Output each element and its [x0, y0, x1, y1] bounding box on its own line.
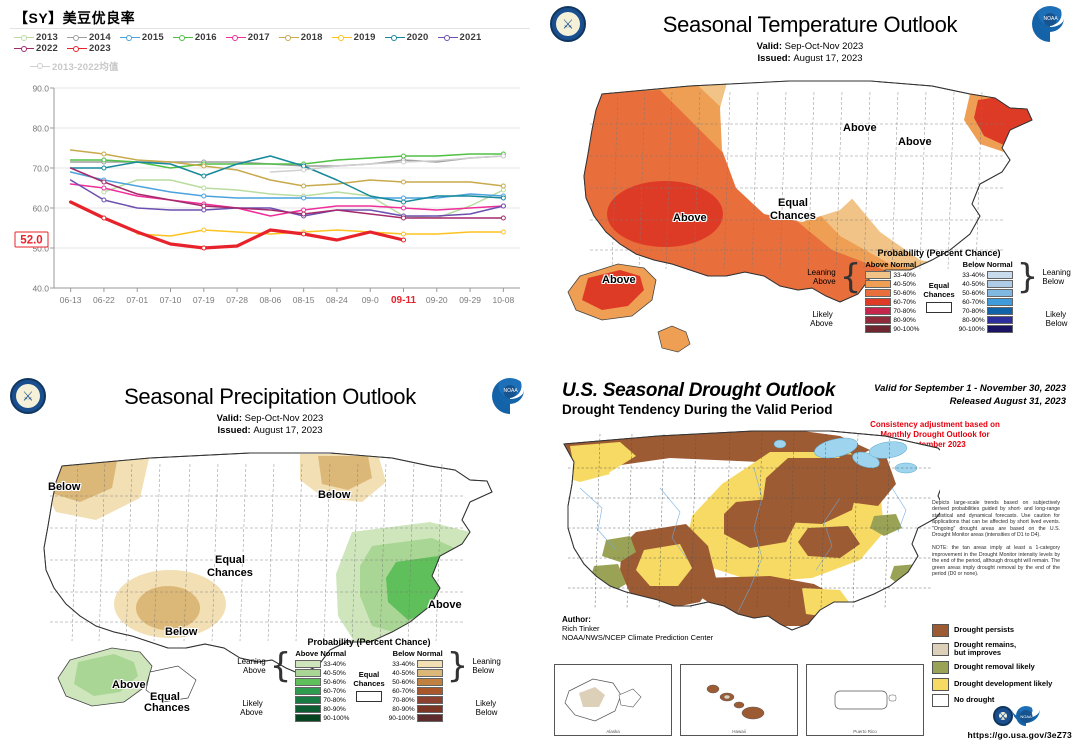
- temperature-below-swatch-row: 50-60%: [959, 289, 1013, 298]
- precipitation-equal-chances: EqualChances: [353, 670, 384, 702]
- temperature-below-range: 50-60%: [962, 290, 984, 297]
- temperature-header: ⚔ NOAA Seasonal Temperature Outlook Vali…: [540, 0, 1080, 64]
- svg-text:09-29: 09-29: [459, 295, 481, 305]
- precipitation-above-range: 80-90%: [323, 706, 345, 713]
- legend-item-2017[interactable]: 2017: [226, 32, 270, 43]
- seasonal-precipitation-outlook-panel: ⚔ NOAA Seasonal Precipitation Outlook Va…: [0, 372, 540, 744]
- temperature-below-range: 40-50%: [962, 281, 984, 288]
- precipitation-below-column: Below Normal33-40%40-50%50-60%60-70%70-8…: [389, 649, 443, 723]
- seasonal-temperature-outlook-panel: ⚔ NOAA Seasonal Temperature Outlook Vali…: [540, 0, 1080, 372]
- temperature-leaning-above-label: LeaningAbove: [807, 268, 835, 286]
- precipitation-below-range: 33-40%: [392, 661, 414, 668]
- drought-author-key: Author:: [562, 615, 591, 624]
- precipitation-below-swatch-row: 80-90%: [389, 705, 443, 714]
- temperature-valid-block: Valid: Sep-Oct-Nov 2023 Issued: August 1…: [540, 41, 1080, 65]
- temperature-map-label: Above: [673, 212, 707, 224]
- temperature-above-swatch-row: 40-50%: [865, 280, 919, 289]
- temperature-above-swatch: [865, 325, 891, 333]
- precipitation-above-range: 60-70%: [323, 688, 345, 695]
- precipitation-header: ⚔ NOAA Seasonal Precipitation Outlook Va…: [0, 372, 540, 436]
- precipitation-above-range: 33-40%: [323, 661, 345, 668]
- temperature-map-label: Above: [898, 136, 932, 148]
- noaa-seal-icon: ⚔: [550, 6, 586, 42]
- precipitation-below-range: 50-60%: [392, 679, 414, 686]
- drought-legend-label: Drought development likely: [954, 680, 1052, 689]
- temperature-above-swatch: [865, 271, 891, 279]
- legend-item-2020[interactable]: 2020: [385, 32, 429, 43]
- legend-marker-icon: [14, 44, 34, 53]
- drought-valid-line2: Released August 31, 2023: [874, 395, 1066, 408]
- legend-item-2016[interactable]: 2016: [173, 32, 217, 43]
- svg-text:08-06: 08-06: [259, 295, 281, 305]
- temperature-above-swatch-row: 90-100%: [865, 325, 919, 334]
- title-divider: [10, 28, 530, 29]
- temperature-above-swatch-row: 60-70%: [865, 298, 919, 307]
- drought-legend-swatch: [932, 694, 949, 707]
- precipitation-below-header: Below Normal: [389, 649, 443, 658]
- precipitation-above-swatch: [295, 705, 321, 713]
- chart-legend-years: 2013201420152016201720182019202020212022…: [14, 32, 526, 54]
- temperature-above-swatch-row: 80-90%: [865, 316, 919, 325]
- drought-author-org: NOAA/NWS/NCEP Climate Prediction Center: [562, 633, 713, 642]
- precipitation-above-swatch: [295, 687, 321, 695]
- drought-legend: Drought persistsDrought remains,but impr…: [932, 624, 1072, 711]
- temperature-below-swatch-row: 33-40%: [959, 271, 1013, 280]
- temperature-below-range: 80-90%: [962, 317, 984, 324]
- noaa-logo-icon: NOAA: [1016, 706, 1036, 726]
- temperature-below-range: 60-70%: [962, 299, 984, 306]
- precipitation-above-column: Above Normal33-40%40-50%50-60%60-70%70-8…: [295, 649, 349, 723]
- drought-legend-item: Drought removal likely: [932, 661, 1072, 674]
- drought-legend-item: Drought development likely: [932, 678, 1072, 691]
- precipitation-map-label: Above: [428, 599, 462, 611]
- temperature-map-label: Above: [602, 274, 636, 286]
- precipitation-map-label: Below: [48, 481, 80, 493]
- precipitation-valid-block: Valid: Sep-Oct-Nov 2023 Issued: August 1…: [0, 413, 540, 437]
- temperature-below-swatch-row: 60-70%: [959, 298, 1013, 307]
- temperature-likely-below-label: LikelyBelow: [1046, 310, 1068, 328]
- svg-text:10-08: 10-08: [492, 295, 514, 305]
- drought-disclaimer-p2: NOTE: the tan areas imply at least a 1-c…: [932, 545, 1060, 577]
- temperature-below-swatch: [987, 289, 1013, 297]
- temperature-above-swatch: [865, 307, 891, 315]
- legend-item-label: 2017: [248, 32, 270, 43]
- svg-text:60.0: 60.0: [32, 204, 49, 214]
- temperature-below-swatch-row: 80-90%: [959, 316, 1013, 325]
- precipitation-below-swatch-row: 70-80%: [389, 696, 443, 705]
- temperature-above-swatch: [865, 280, 891, 288]
- temperature-above-column: Above Normal33-40%40-50%50-60%60-70%70-8…: [865, 260, 919, 334]
- svg-text:90.0: 90.0: [32, 84, 49, 94]
- precipitation-above-swatch-row: 60-70%: [295, 687, 349, 696]
- precipitation-above-swatch: [295, 669, 321, 677]
- temperature-equal-swatch: [926, 302, 952, 313]
- precipitation-map-label: Chances: [207, 567, 253, 579]
- temperature-above-swatch: [865, 316, 891, 324]
- temperature-below-range: 90-100%: [959, 326, 985, 333]
- drought-legend-item: Drought remains,but improves: [932, 641, 1072, 658]
- precipitation-above-swatch-row: 80-90%: [295, 705, 349, 714]
- drought-author-name: Rich Tinker: [562, 624, 600, 633]
- legend-item-label: 2016: [195, 32, 217, 43]
- legend-item-label: 2019: [354, 32, 376, 43]
- precipitation-above-swatch-row: 90-100%: [295, 714, 349, 723]
- precipitation-map-label: Below: [318, 489, 350, 501]
- temperature-below-swatch: [987, 271, 1013, 279]
- precipitation-title: Seasonal Precipitation Outlook: [0, 372, 540, 410]
- precipitation-above-swatch-row: 50-60%: [295, 678, 349, 687]
- temperature-below-range: 70-80%: [962, 308, 984, 315]
- precipitation-above-swatch: [295, 660, 321, 668]
- precipitation-above-header: Above Normal: [295, 649, 349, 658]
- svg-text:70.0: 70.0: [32, 164, 49, 174]
- temperature-above-range: 50-60%: [893, 290, 915, 297]
- precipitation-above-range: 40-50%: [323, 670, 345, 677]
- precipitation-map-label: Above: [112, 679, 146, 691]
- temperature-above-range: 70-80%: [893, 308, 915, 315]
- svg-text:07-01: 07-01: [126, 295, 148, 305]
- precipitation-valid-key: Valid:: [217, 413, 242, 424]
- temperature-issued-value: August 17, 2023: [793, 53, 862, 64]
- svg-text:80.0: 80.0: [32, 124, 49, 134]
- precipitation-map-label: Below: [165, 626, 197, 638]
- drought-inset-hawaii: Hawaii: [680, 664, 798, 736]
- precipitation-equal-label-1: Equal: [353, 670, 384, 679]
- temperature-valid-value: Sep-Oct-Nov 2023: [785, 41, 864, 52]
- drought-inset-alaska: Alaska: [554, 664, 672, 736]
- temperature-below-header: Below Normal: [959, 260, 1013, 269]
- legend-item-2022[interactable]: 2022: [14, 43, 58, 54]
- precipitation-likely-above-label: LikelyAbove: [240, 699, 263, 717]
- temperature-below-swatch: [987, 316, 1013, 324]
- temperature-below-swatch: [987, 280, 1013, 288]
- precipitation-below-swatch-row: 33-40%: [389, 660, 443, 669]
- temperature-above-header: Above Normal: [865, 260, 919, 269]
- legend-item-label: 2020: [407, 32, 429, 43]
- precipitation-above-range: 50-60%: [323, 679, 345, 686]
- temperature-issued-key: Issued:: [757, 53, 790, 64]
- temperature-above-range: 90-100%: [893, 326, 919, 333]
- svg-text:08-24: 08-24: [326, 295, 348, 305]
- legend-item-label: 2023: [89, 43, 111, 54]
- soybean-condition-chart-panel: 【SY】美豆优良率 201320142015201620172018201920…: [0, 0, 540, 372]
- legend-item-label: 2018: [301, 32, 323, 43]
- seasonal-drought-outlook-panel: U.S. Seasonal Drought Outlook Drought Te…: [540, 372, 1080, 744]
- drought-legend-label: Drought removal likely: [954, 663, 1035, 672]
- temperature-above-swatch: [865, 298, 891, 306]
- temperature-above-range: 60-70%: [893, 299, 915, 306]
- legend-item-2014[interactable]: 2014: [67, 32, 111, 43]
- temperature-above-swatch-row: 33-40%: [865, 271, 919, 280]
- drought-title: U.S. Seasonal Drought Outlook: [562, 380, 835, 402]
- temperature-likely-above-label: LikelyAbove: [810, 310, 833, 328]
- drought-subtitle: Drought Tendency During the Valid Period: [562, 402, 833, 417]
- legend-marker-icon: [332, 33, 352, 42]
- temperature-above-range: 40-50%: [893, 281, 915, 288]
- precipitation-below-range: 60-70%: [392, 688, 414, 695]
- legend-item-label: 2022: [36, 43, 58, 54]
- precipitation-above-swatch-row: 33-40%: [295, 660, 349, 669]
- precipitation-equal-label-2: Chances: [353, 679, 384, 688]
- precipitation-probability-legend: Probability (Percent Chance)LeaningAbove…: [238, 637, 500, 723]
- precipitation-below-swatch-row: 50-60%: [389, 678, 443, 687]
- temperature-above-range: 33-40%: [893, 272, 915, 279]
- precipitation-above-range: 70-80%: [323, 697, 345, 704]
- svg-text:40.0: 40.0: [32, 284, 49, 294]
- drought-legend-swatch: [932, 678, 949, 691]
- precipitation-below-range: 40-50%: [392, 670, 414, 677]
- page-title: 【SY】美豆优良率: [14, 8, 135, 28]
- legend-item-2013[interactable]: 2013: [14, 32, 58, 43]
- svg-text:07-10: 07-10: [160, 295, 182, 305]
- precipitation-equal-swatch: [356, 691, 382, 702]
- drought-legend-swatch: [932, 643, 949, 656]
- drought-url: https://go.usa.gov/3eZ73: [968, 730, 1072, 740]
- drought-legend-item: Drought persists: [932, 624, 1072, 637]
- precipitation-above-swatch-row: 40-50%: [295, 669, 349, 678]
- temperature-equal-label-1: Equal: [923, 281, 954, 290]
- legend-item-2018[interactable]: 2018: [279, 32, 323, 43]
- drought-valid-line1: Valid for September 1 - November 30, 202…: [874, 382, 1066, 395]
- precipitation-above-swatch: [295, 678, 321, 686]
- chart-legend: 2013201420152016201720182019202020212022…: [14, 32, 526, 73]
- precipitation-below-range: 70-80%: [392, 697, 414, 704]
- temperature-below-swatch: [987, 298, 1013, 306]
- precipitation-above-swatch: [295, 696, 321, 704]
- precipitation-below-swatch: [417, 660, 443, 668]
- temperature-above-range: 80-90%: [893, 317, 915, 324]
- drought-inset-caption: Alaska: [555, 729, 671, 734]
- legend-marker-icon: [226, 33, 246, 42]
- precipitation-below-swatch: [417, 696, 443, 704]
- drought-legend-label: Drought persists: [954, 626, 1014, 635]
- precipitation-above-swatch: [295, 714, 321, 722]
- temperature-leaning-below-label: LeaningBelow: [1042, 268, 1070, 286]
- temperature-above-swatch: [865, 289, 891, 297]
- precipitation-below-swatch-row: 40-50%: [389, 669, 443, 678]
- drought-legend-label: Drought remains,but improves: [954, 641, 1016, 658]
- legend-item-label: 2021: [460, 32, 482, 43]
- temperature-below-swatch-row: 40-50%: [959, 280, 1013, 289]
- legend-item-2019[interactable]: 2019: [332, 32, 376, 43]
- drought-valid-block: Valid for September 1 - November 30, 202…: [874, 382, 1066, 408]
- drought-inset-puerto-rico: Puerto Rico: [806, 664, 924, 736]
- legend-item-2015[interactable]: 2015: [120, 32, 164, 43]
- drought-legend-label: No drought: [954, 696, 994, 705]
- precipitation-above-range: 90-100%: [323, 715, 349, 722]
- noaa-logo-icon: NOAA: [1032, 6, 1068, 42]
- temperature-above-swatch-row: 70-80%: [865, 307, 919, 316]
- svg-text:09-0: 09-0: [362, 295, 379, 305]
- precipitation-issued-value: August 17, 2023: [253, 425, 322, 436]
- precipitation-below-range: 90-100%: [389, 715, 415, 722]
- noaa-seal-icon: ⚔: [10, 378, 46, 414]
- precipitation-below-swatch: [417, 669, 443, 677]
- legend-item-label: 2015: [142, 32, 164, 43]
- drought-disclaimer-p1: Depicts large-scale trends based on subj…: [932, 500, 1060, 538]
- temperature-map-label: Equal: [778, 197, 808, 209]
- svg-text:09-20: 09-20: [426, 295, 448, 305]
- legend-marker-icon: [120, 33, 140, 42]
- legend-item-2021[interactable]: 2021: [438, 32, 482, 43]
- temperature-below-swatch-row: 90-100%: [959, 325, 1013, 334]
- temperature-probability-legend: Probability (Percent Chance)LeaningAbove…: [808, 248, 1070, 334]
- svg-text:06-13: 06-13: [60, 295, 82, 305]
- noaa-seal-icon: ⚔: [993, 706, 1013, 726]
- legend-marker-icon: [279, 33, 299, 42]
- drought-legend-swatch: [932, 624, 949, 637]
- legend-marker-icon: [385, 33, 405, 42]
- precipitation-map-label: Equal: [215, 554, 245, 566]
- precipitation-below-swatch: [417, 678, 443, 686]
- temperature-below-swatch: [987, 325, 1013, 333]
- svg-text:07-28: 07-28: [226, 295, 248, 305]
- legend-item-label: 2013-2022均值: [52, 59, 119, 73]
- legend-item-label: 2014: [89, 32, 111, 43]
- precipitation-issued-key: Issued:: [217, 425, 250, 436]
- temperature-valid-key: Valid:: [757, 41, 782, 52]
- svg-text:07-19: 07-19: [193, 295, 215, 305]
- legend-marker-icon: [30, 62, 50, 71]
- noaa-logo-icon: NOAA: [492, 378, 528, 414]
- svg-text:06-22: 06-22: [93, 295, 115, 305]
- precipitation-below-swatch: [417, 705, 443, 713]
- precipitation-above-swatch-row: 70-80%: [295, 696, 349, 705]
- legend-marker-icon: [173, 33, 193, 42]
- temperature-below-range: 33-40%: [962, 272, 984, 279]
- legend-item-label: 2013: [36, 32, 58, 43]
- temperature-below-swatch: [987, 307, 1013, 315]
- drought-author-block: Author: Rich Tinker NOAA/NWS/NCEP Climat…: [562, 615, 713, 642]
- temperature-equal-label-2: Chances: [923, 290, 954, 299]
- precipitation-likely-below-label: LikelyBelow: [476, 699, 498, 717]
- chart-plot-area: 40.050.060.070.080.090.006-1306-2207-010…: [14, 78, 526, 318]
- precipitation-valid-value: Sep-Oct-Nov 2023: [245, 413, 324, 424]
- drought-inset-caption: Puerto Rico: [807, 729, 923, 734]
- precipitation-below-swatch-row: 90-100%: [389, 714, 443, 723]
- temperature-map-label: Chances: [770, 210, 816, 222]
- legend-item-2013-2022均值[interactable]: 2013-2022均值: [30, 59, 119, 73]
- temperature-title: Seasonal Temperature Outlook: [540, 0, 1080, 38]
- precipitation-below-swatch: [417, 687, 443, 695]
- precipitation-below-swatch: [417, 714, 443, 722]
- temperature-below-swatch-row: 70-80%: [959, 307, 1013, 316]
- precipitation-map-label: Chances: [144, 702, 190, 714]
- temperature-below-column: Below Normal33-40%40-50%50-60%60-70%70-8…: [959, 260, 1013, 334]
- legend-marker-icon: [14, 33, 34, 42]
- chart-legend-average: 2013-2022均值: [30, 59, 526, 73]
- svg-text:08-15: 08-15: [293, 295, 315, 305]
- drought-disclaimer: Depicts large-scale trends based on subj…: [932, 500, 1060, 584]
- precipitation-below-swatch-row: 60-70%: [389, 687, 443, 696]
- precipitation-leaning-below-label: LeaningBelow: [472, 657, 500, 675]
- legend-marker-icon: [67, 44, 87, 53]
- temperature-equal-chances: EqualChances: [923, 281, 954, 313]
- drought-inset-caption: Hawaii: [681, 729, 797, 734]
- drought-logos: ⚔ NOAA: [993, 706, 1036, 726]
- svg-text:52.0: 52.0: [20, 235, 42, 247]
- legend-item-2023[interactable]: 2023: [67, 43, 111, 54]
- legend-marker-icon: [67, 33, 87, 42]
- temperature-above-swatch-row: 50-60%: [865, 289, 919, 298]
- precipitation-leaning-above-label: LeaningAbove: [237, 657, 265, 675]
- legend-marker-icon: [438, 33, 458, 42]
- temperature-map-label: Above: [843, 122, 877, 134]
- drought-legend-swatch: [932, 661, 949, 674]
- svg-text:09-11: 09-11: [391, 295, 416, 306]
- precipitation-below-range: 80-90%: [392, 706, 414, 713]
